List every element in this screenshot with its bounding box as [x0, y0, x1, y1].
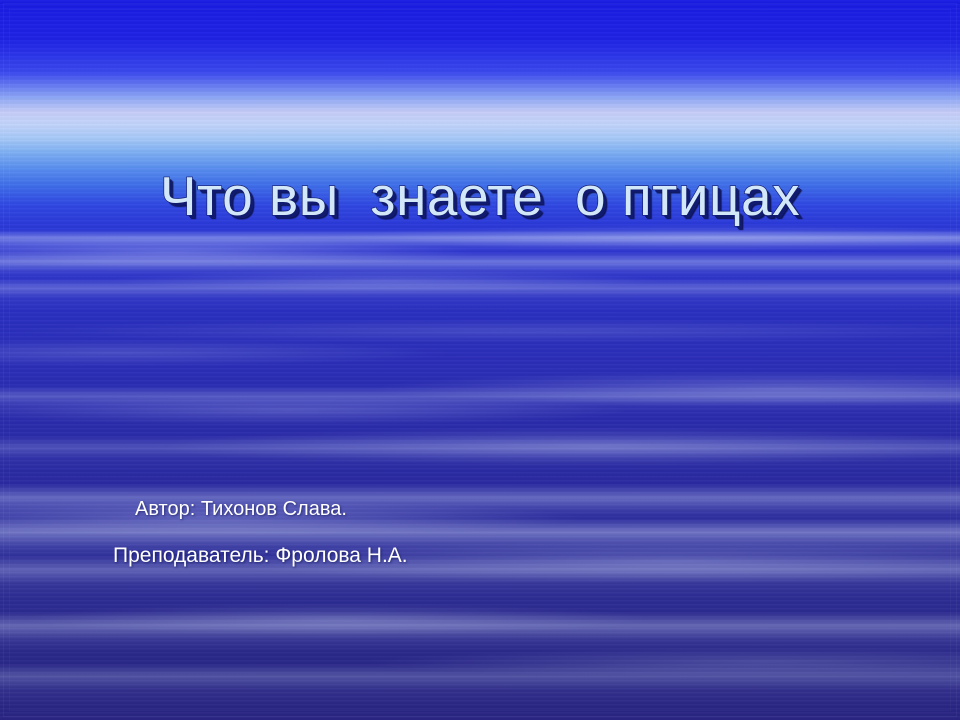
- subtitle-teacher: Преподаватель: Фролова Н.А.: [113, 544, 408, 568]
- slide-title: Что вы знаете о птицах: [0, 168, 960, 226]
- cloud-streaks-layer-1: [0, 0, 960, 720]
- title-slide: Что вы знаете о птицах Автор: Тихонов Сл…: [0, 0, 960, 720]
- subtitle-author: Автор: Тихонов Слава.: [135, 498, 347, 521]
